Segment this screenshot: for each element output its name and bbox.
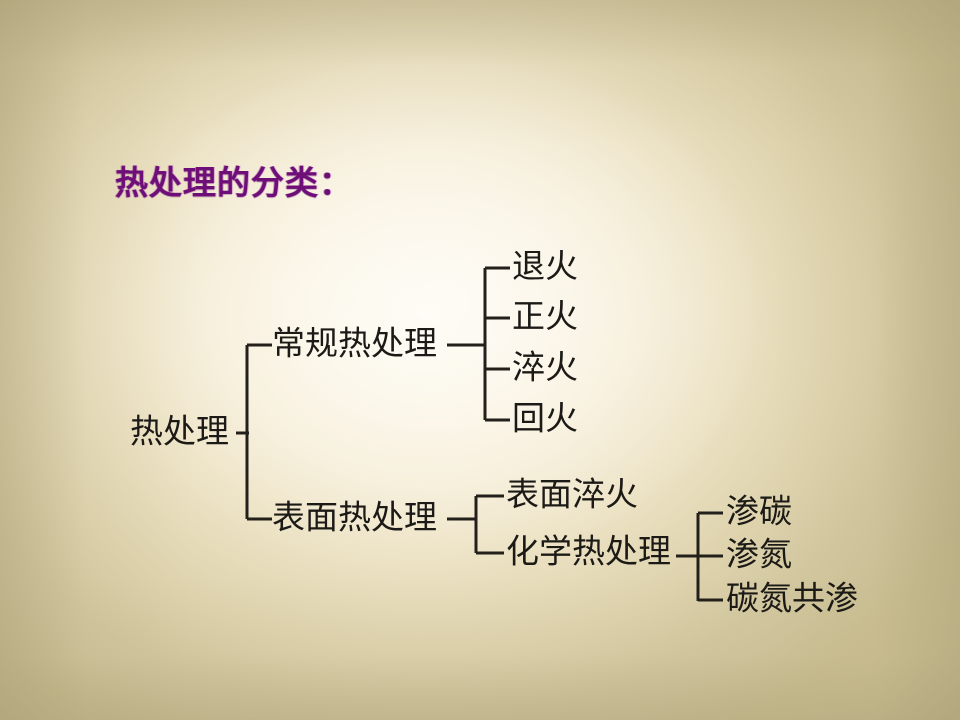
connector-surface-out [447,518,477,521]
connector-conventional-out [447,344,486,347]
tree-node-carburizing: 渗碳 [726,497,792,530]
tree-node-surface: 表面热处理 [272,503,437,536]
connector-branch-annealing [485,267,510,270]
connector-branch-chemical [476,552,504,555]
tree-node-surface-quenching: 表面淬火 [506,480,638,513]
slide-canvas: 热处理的分类： 热处理 常规热处理 表面热处理 退火 正火 淬火 回火 表面淬火… [0,0,960,720]
connector-branch-carburizing [698,512,723,515]
tree-node-normalizing: 正火 [512,302,578,335]
connector-level2b-spine [475,496,478,553]
tree-node-annealing: 退火 [512,252,578,285]
connector-level2a-spine [484,268,487,420]
connector-level1-branch-conventional [247,344,272,347]
tree-node-root: 热处理 [130,417,229,450]
tree-node-conventional: 常规热处理 [272,329,437,362]
tree-node-chemical: 化学热处理 [506,537,671,570]
connector-branch-normalizing [485,317,510,320]
connector-level1-branch-surface [247,518,272,521]
tree-node-quenching: 淬火 [512,353,578,386]
connector-branch-nitriding [698,555,723,558]
tree-node-tempering: 回火 [512,404,578,437]
classification-tree-diagram: 热处理 常规热处理 表面热处理 退火 正火 淬火 回火 表面淬火 化学热处理 [0,0,960,720]
connector-level1-spine [246,345,249,519]
tree-node-carbonitriding: 碳氮共渗 [726,584,858,617]
tree-node-nitriding: 渗氮 [726,540,792,573]
connector-branch-quenching [485,368,510,371]
connector-branch-surface-quenching [476,495,504,498]
connector-branch-carbonitriding [698,599,723,602]
connector-branch-tempering [485,419,510,422]
